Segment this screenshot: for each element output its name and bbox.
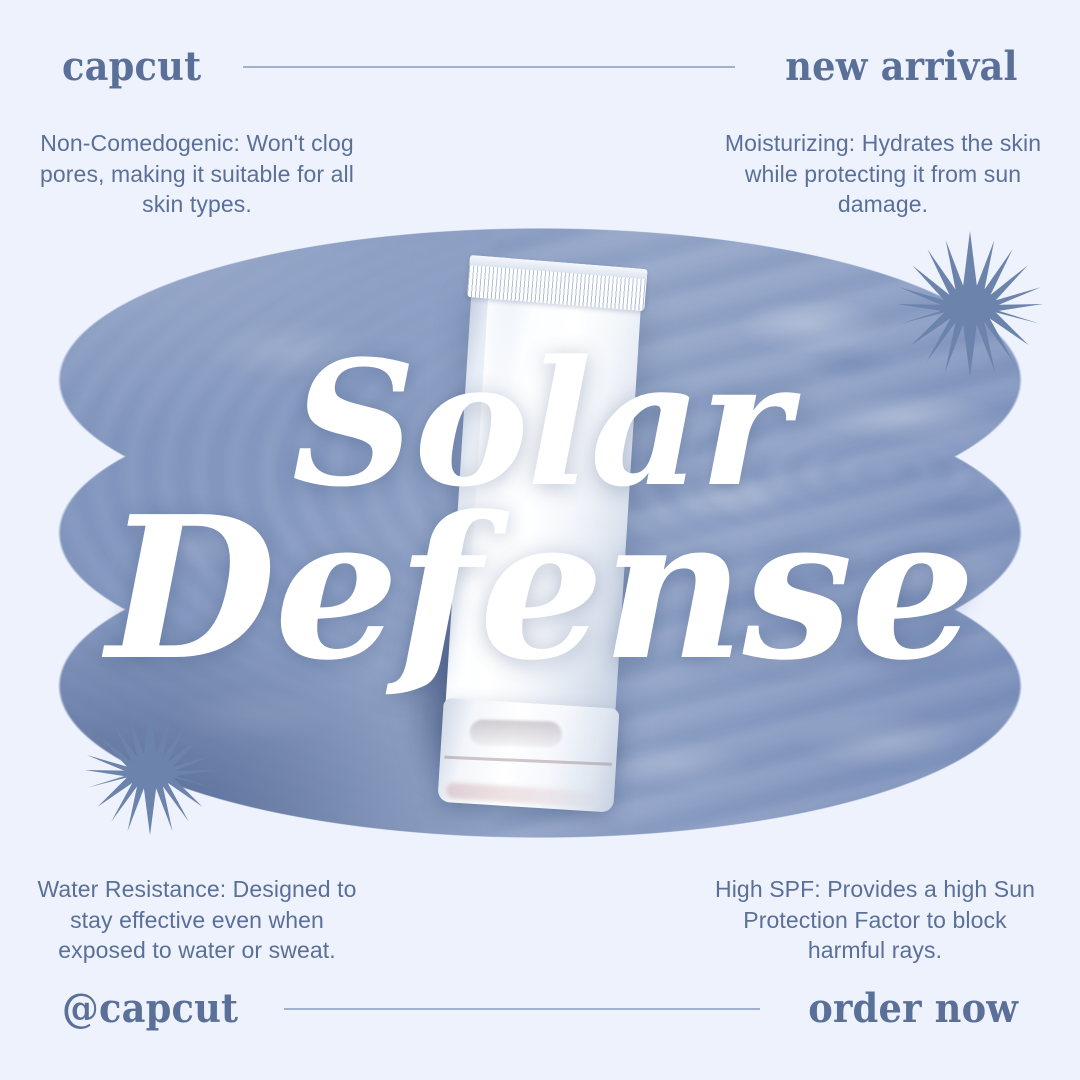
order-now-cta[interactable]: order now [808, 989, 1018, 1029]
brand-logo[interactable]: capcut [62, 47, 201, 87]
cap-seam [444, 756, 612, 766]
feature-water-resistance: Water Resistance: Designed to stay effec… [32, 874, 362, 966]
water-highlight [58, 228, 501, 435]
footer-divider [284, 1008, 760, 1010]
header-bar: capcut new arrival [0, 40, 1080, 94]
feature-high-spf: High SPF: Provides a high Sun Protection… [710, 874, 1040, 966]
feature-non-comedogenic: Non-Comedogenic: Won't clog pores, makin… [32, 128, 362, 220]
starburst-icon [82, 702, 218, 838]
header-tagline: new arrival [785, 47, 1018, 87]
poster-canvas: capcut new arrival Non-Comedogenic: Won'… [0, 0, 1080, 1080]
tube-cap [437, 698, 619, 813]
social-handle[interactable]: @capcut [62, 989, 238, 1029]
feature-moisturizing: Moisturizing: Hydrates the skin while pr… [718, 128, 1048, 220]
cap-notch [469, 719, 562, 748]
water-bubble [813, 610, 839, 636]
tube-body [442, 287, 641, 767]
footer-bar: @capcut order now [0, 982, 1080, 1036]
starburst-icon [894, 228, 1046, 380]
header-divider [243, 66, 735, 68]
product-tube [424, 248, 654, 799]
